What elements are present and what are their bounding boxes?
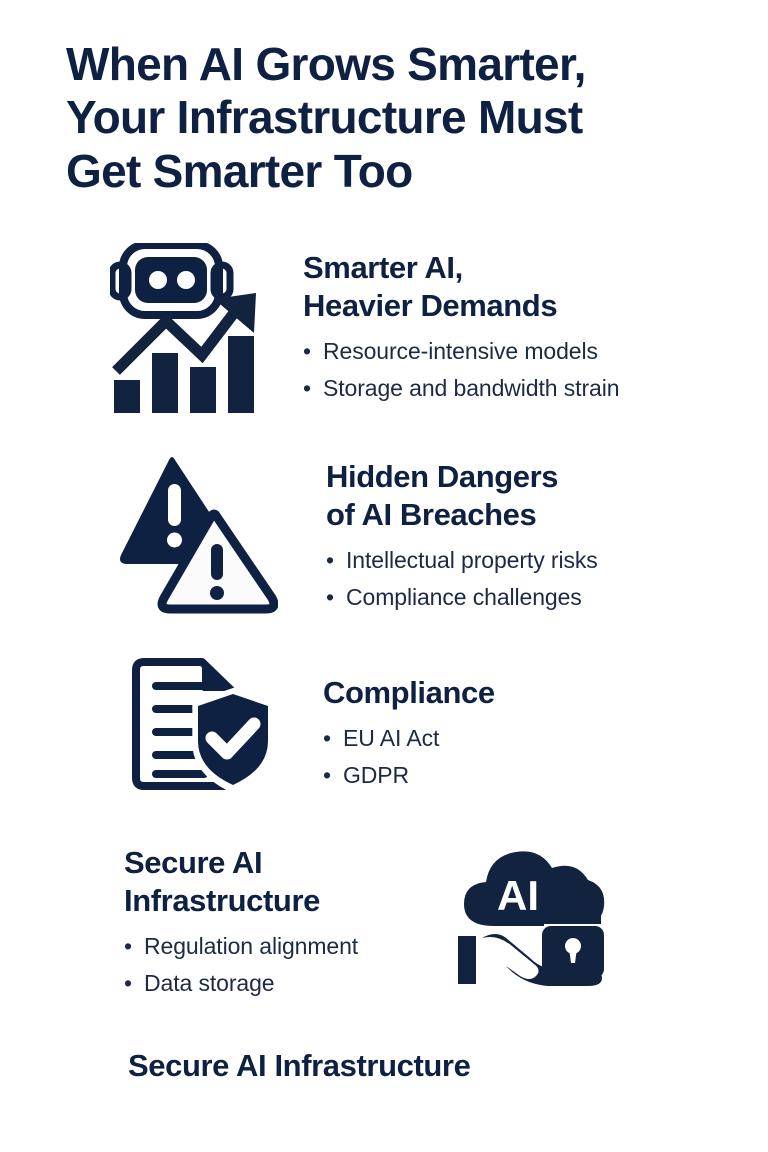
list-item: • Compliance challenges — [326, 579, 598, 616]
bullet-dot: • — [323, 720, 343, 757]
bullet-dot: • — [323, 757, 343, 794]
list-item: • Storage and bandwidth strain — [303, 370, 619, 407]
cloud-ai-label: AI — [497, 872, 539, 919]
section-heading: Secure AI Infrastructure — [124, 844, 358, 920]
document-shield-check-icon — [128, 658, 273, 793]
list-item-label: Compliance challenges — [346, 579, 582, 616]
section-heading: Compliance — [323, 674, 495, 712]
page-title: When AI Grows Smarter, Your Infrastructu… — [66, 38, 706, 198]
section-bullet-list: • EU AI Act • GDPR — [323, 720, 495, 795]
list-item: • EU AI Act — [323, 720, 495, 757]
bullet-dot: • — [124, 965, 144, 1002]
section-smarter-ai: Smarter AI, Heavier Demands • Resource-i… — [110, 243, 619, 415]
list-item-label: EU AI Act — [343, 720, 439, 757]
bullet-dot: • — [326, 542, 346, 579]
section-heading: Hidden Dangers of AI Breaches — [326, 458, 598, 534]
list-item-label: Regulation alignment — [144, 928, 358, 965]
list-item: • Resource-intensive models — [303, 333, 619, 370]
list-item: • Regulation alignment — [124, 928, 358, 965]
bullet-dot: • — [326, 579, 346, 616]
section-heading: Smarter AI, Heavier Demands — [303, 249, 619, 325]
list-item: • Intellectual property risks — [326, 542, 598, 579]
list-item-label: Resource-intensive models — [323, 333, 598, 370]
section-secure-ai-infrastructure: Secure AI Infrastructure • Regulation al… — [124, 838, 616, 1002]
section-text-block: Smarter AI, Heavier Demands • Resource-i… — [303, 249, 619, 407]
footer-title: Secure AI Infrastructure — [128, 1048, 470, 1084]
section-text-block: Hidden Dangers of AI Breaches • Intellec… — [326, 458, 598, 616]
warning-triangles-icon — [118, 452, 278, 617]
section-bullet-list: • Regulation alignment • Data storage — [124, 928, 358, 1003]
bullet-dot: • — [303, 333, 323, 370]
list-item-label: Storage and bandwidth strain — [323, 370, 619, 407]
list-item: • Data storage — [124, 965, 358, 1002]
bullet-dot: • — [124, 928, 144, 965]
infographic-page: When AI Grows Smarter, Your Infrastructu… — [0, 0, 768, 1152]
section-hidden-dangers: Hidden Dangers of AI Breaches • Intellec… — [118, 452, 598, 617]
cloud-ai-lock-hand-icon: AI — [456, 838, 616, 988]
list-item-label: GDPR — [343, 757, 409, 794]
section-text-block: Compliance • EU AI Act • GDPR — [323, 674, 495, 794]
robot-growth-chart-icon — [110, 243, 260, 415]
list-item-label: Data storage — [144, 965, 275, 1002]
list-item-label: Intellectual property risks — [346, 542, 598, 579]
section-bullet-list: • Resource-intensive models • Storage an… — [303, 333, 619, 408]
section-bullet-list: • Intellectual property risks • Complian… — [326, 542, 598, 617]
section-text-block: Secure AI Infrastructure • Regulation al… — [124, 844, 358, 1002]
bullet-dot: • — [303, 370, 323, 407]
list-item: • GDPR — [323, 757, 495, 794]
section-compliance: Compliance • EU AI Act • GDPR — [128, 658, 495, 794]
